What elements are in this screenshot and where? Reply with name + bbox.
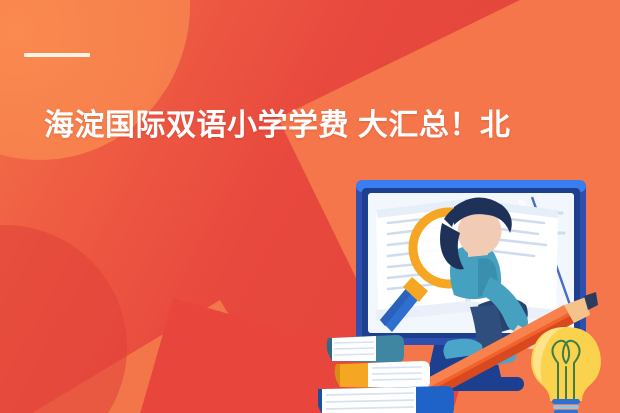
banner-headline: 海淀国际双语小学学费 大汇总！北 <box>44 107 620 145</box>
book-top <box>327 335 404 363</box>
e-learning-research-illustration <box>318 155 620 413</box>
accent-rule <box>24 53 90 57</box>
book-bottom <box>318 386 454 413</box>
lightbulb-icon <box>531 327 601 413</box>
promo-banner: 海淀国际双语小学学费 大汇总！北 <box>0 0 620 413</box>
book-middle <box>335 361 430 389</box>
